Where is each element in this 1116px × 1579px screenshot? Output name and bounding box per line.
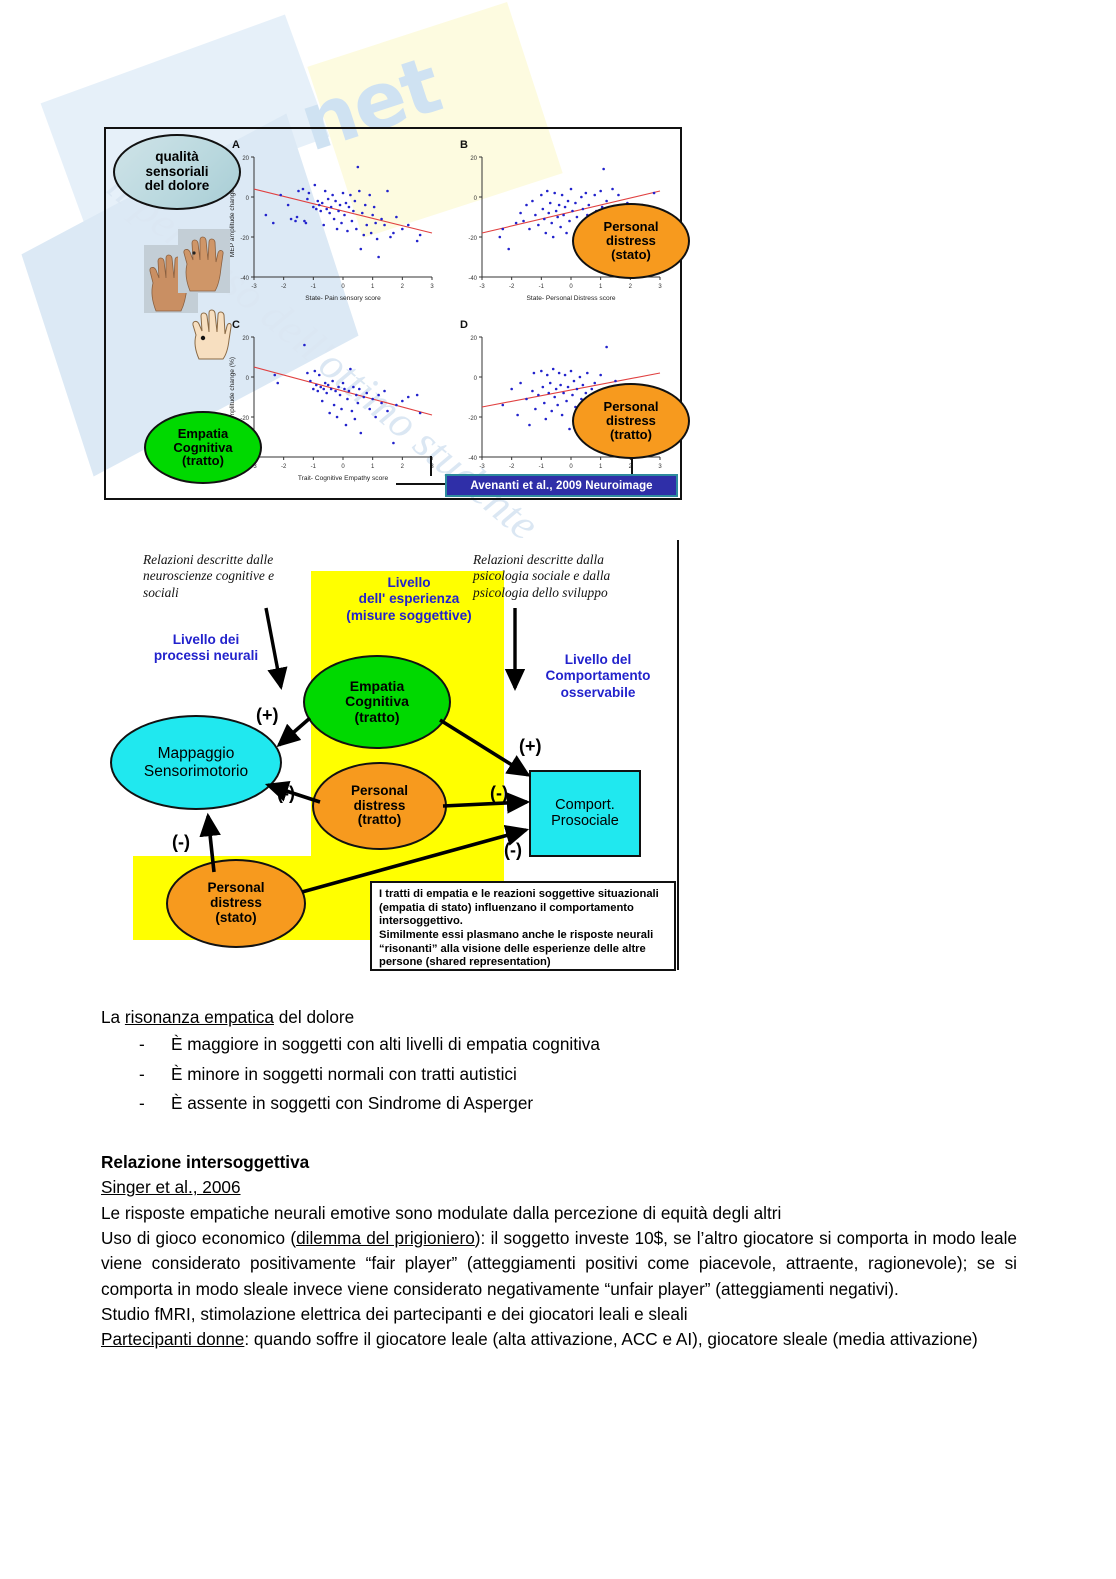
- partecipanti-underlined: Partecipanti donne: [101, 1329, 244, 1349]
- panel-letter-b: B: [460, 139, 468, 151]
- bullet-list: - È maggiore in soggetti con alti livell…: [101, 1032, 1017, 1116]
- paragraph-partecipanti-donne: Partecipanti donne: quando soffre il gio…: [101, 1327, 1017, 1352]
- svg-text:0: 0: [341, 464, 345, 470]
- figure-livelli-empatia: Relazioni descritte dalle neuroscienze c…: [104, 540, 679, 980]
- svg-text:-3: -3: [479, 284, 485, 290]
- hand-drawing: [188, 305, 234, 361]
- svg-text:-40: -40: [468, 456, 477, 462]
- svg-text:1: 1: [599, 284, 603, 290]
- heading-risonanza-empatica: La risonanza empatica del dolore: [101, 1005, 1017, 1030]
- hand-photo-2: [178, 229, 230, 293]
- svg-text:State- Personal Distress score: State- Personal Distress score: [526, 295, 615, 302]
- svg-text:0: 0: [569, 284, 573, 290]
- svg-text:-3: -3: [479, 464, 485, 470]
- figure-citation-banner: Avenanti et al., 2009 Neuroimage: [445, 474, 678, 497]
- sign-pds-to-mappaggio: (-): [172, 832, 190, 853]
- svg-text:0: 0: [246, 196, 250, 202]
- svg-text:2: 2: [401, 464, 405, 470]
- citation-leader-vertical: [430, 456, 432, 476]
- svg-text:0: 0: [474, 376, 478, 382]
- heading-suffix: del dolore: [274, 1007, 354, 1027]
- svg-text:-40: -40: [468, 276, 477, 282]
- arrow-pdt-to-comport: [443, 802, 527, 806]
- svg-text:-1: -1: [539, 284, 545, 290]
- callout-qualita-sensoriali: qualità sensoriali del dolore: [113, 134, 241, 210]
- bullet-marker: -: [139, 1032, 145, 1057]
- svg-text:-1: -1: [311, 464, 317, 470]
- svg-text:-1: -1: [539, 464, 545, 470]
- svg-text:-20: -20: [240, 236, 249, 242]
- arrow-ec-to-comport: [440, 720, 528, 775]
- svg-text:3: 3: [430, 284, 434, 290]
- paragraph-gioco-economico: Uso di gioco economico (dilemma del prig…: [101, 1226, 1017, 1302]
- hand-photo-2-icon: [178, 229, 230, 293]
- svg-text:2: 2: [401, 284, 405, 290]
- arrow-ec-to-mappaggio: [279, 718, 310, 745]
- svg-text:2: 2: [629, 284, 633, 290]
- callout-personal-distress-stato: Personal distress (stato): [572, 203, 690, 279]
- arrow-left-annotation: [266, 608, 281, 687]
- list-item: - È minore in soggetti normali con tratt…: [101, 1062, 1017, 1087]
- panel-letter-d: D: [460, 319, 468, 331]
- svg-text:-20: -20: [468, 416, 477, 422]
- heading-prefix: La: [101, 1007, 125, 1027]
- svg-text:-3: -3: [251, 284, 257, 290]
- svg-text:20: 20: [470, 156, 477, 162]
- svg-text:-40: -40: [240, 276, 249, 282]
- callout-pd-tratto-label: Personal distress (tratto): [604, 400, 659, 442]
- bullet-marker: -: [139, 1062, 145, 1087]
- list-item: - È assente in soggetti con Sindrome di …: [101, 1091, 1017, 1116]
- sign-ec-to-comport: (+): [519, 736, 542, 757]
- svg-text:Trait- Cognitive Empathy score: Trait- Cognitive Empathy score: [298, 475, 389, 482]
- partecipanti-rest: : quando soffre il giocatore leale (alta…: [244, 1329, 977, 1349]
- svg-text:3: 3: [658, 464, 662, 470]
- svg-text:20: 20: [470, 336, 477, 342]
- paragraph-studio-fmri: Studio fMRI, stimolazione elettrica dei …: [101, 1302, 1017, 1327]
- svg-text:20: 20: [242, 156, 249, 162]
- paragraph-gioco-underlined: dilemma del prigioniero: [296, 1228, 475, 1248]
- svg-text:-2: -2: [281, 464, 287, 470]
- heading-underlined: risonanza empatica: [125, 1007, 274, 1027]
- bullet-text: È minore in soggetti normali con tratti …: [171, 1064, 517, 1084]
- svg-text:-1: -1: [311, 284, 317, 290]
- svg-text:-2: -2: [509, 284, 515, 290]
- panel-letter-a: A: [232, 139, 240, 151]
- svg-text:1: 1: [599, 464, 603, 470]
- svg-text:0: 0: [246, 376, 250, 382]
- callout-empatia-cognitiva: Empatia Cognitiva (tratto): [144, 411, 262, 484]
- paragraph-gioco-prefix: Uso di gioco economico (: [101, 1228, 296, 1248]
- svg-text:-2: -2: [509, 464, 515, 470]
- svg-text:State- Pain sensory score: State- Pain sensory score: [305, 295, 381, 302]
- document-body: La risonanza empatica del dolore - È mag…: [101, 1005, 1017, 1352]
- svg-text:1: 1: [371, 284, 375, 290]
- svg-text:0: 0: [341, 284, 345, 290]
- figure-avenanti-scatter: A -40-20020-3-2-10123State- Pain sensory…: [104, 127, 682, 500]
- scatter-panel-a: A -40-20020-3-2-10123State- Pain sensory…: [214, 141, 440, 313]
- figure2-note-box: I tratti di empatia e le reazioni sogget…: [370, 881, 676, 971]
- bullet-text: È maggiore in soggetti con alti livelli …: [171, 1034, 600, 1054]
- paragraph-risposte-empatiche: Le risposte empatiche neurali emotive so…: [101, 1201, 1017, 1226]
- panel-a-plot: -40-20020-3-2-10123State- Pain sensory s…: [214, 141, 440, 313]
- source-citation-text: Singer et al., 2006: [101, 1177, 241, 1197]
- svg-text:0: 0: [474, 196, 478, 202]
- citation-leader-horizontal: [396, 483, 446, 485]
- source-citation-singer: Singer et al., 2006: [101, 1175, 1017, 1200]
- callout-pd-stato-label: Personal distress (stato): [604, 220, 659, 262]
- callout-empatia-label: Empatia Cognitiva (tratto): [173, 427, 232, 469]
- svg-text:-20: -20: [468, 236, 477, 242]
- paragraph-spacer: [101, 1120, 1017, 1150]
- list-item: - È maggiore in soggetti con alti livell…: [101, 1032, 1017, 1057]
- section-title-relazione-intersoggettiva: Relazione intersoggettiva: [101, 1150, 1017, 1175]
- bullet-text: È assente in soggetti con Sindrome di As…: [171, 1093, 533, 1113]
- sign-pds-to-comport: (-): [504, 840, 522, 861]
- callout-personal-distress-tratto: Personal distress (tratto): [572, 383, 690, 459]
- callout-qualita-label: qualità sensoriali del dolore: [145, 150, 210, 193]
- svg-text:20: 20: [242, 336, 249, 342]
- svg-text:-2: -2: [281, 284, 287, 290]
- svg-text:3: 3: [658, 284, 662, 290]
- svg-text:1: 1: [371, 464, 375, 470]
- svg-text:0: 0: [569, 464, 573, 470]
- sign-pdt-to-comport: (-): [490, 783, 508, 804]
- sign-pdt-to-mappaggio: (-): [277, 783, 295, 804]
- arrow-pds-to-mappaggio: [208, 816, 214, 872]
- sign-ec-to-mappaggio: (+): [256, 705, 279, 726]
- bullet-marker: -: [139, 1091, 145, 1116]
